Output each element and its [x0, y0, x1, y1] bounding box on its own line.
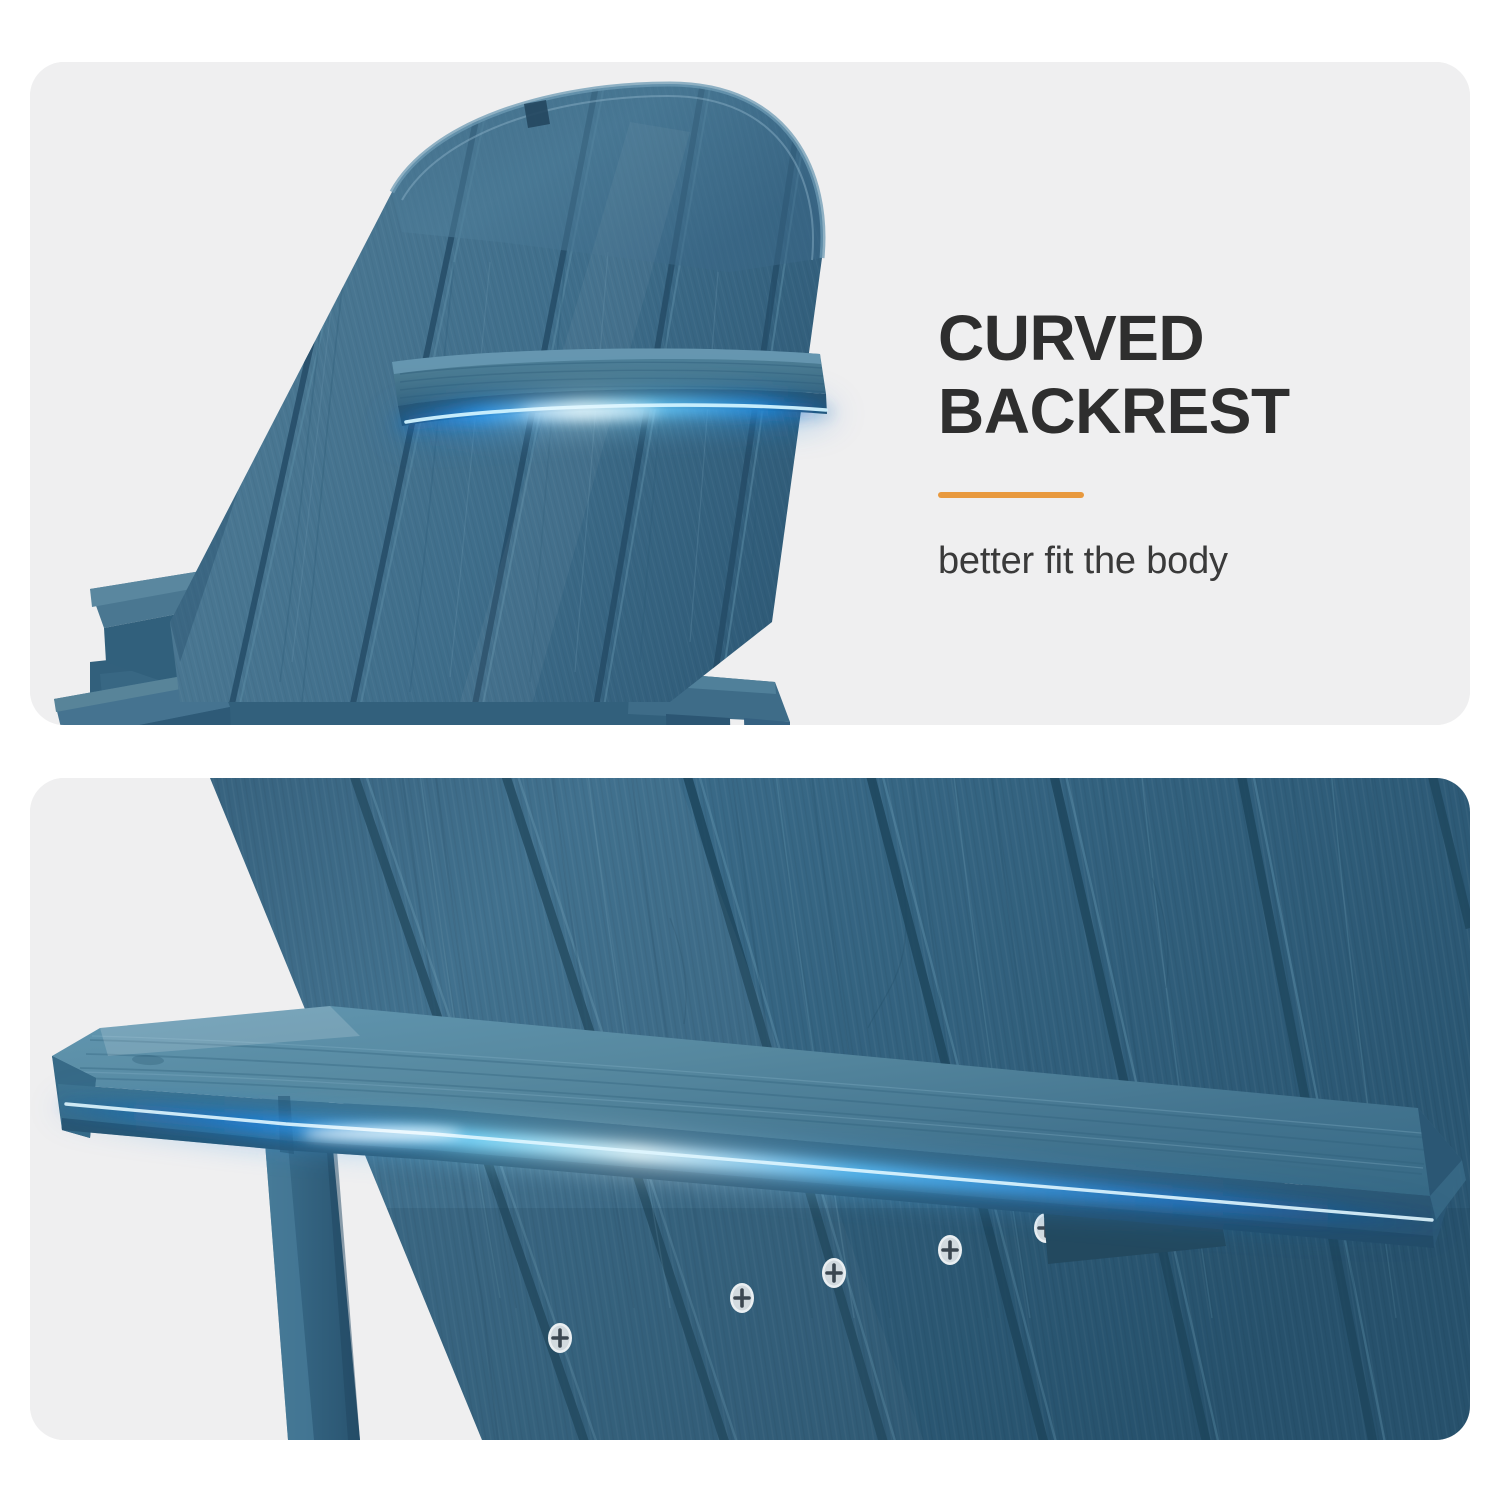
panel-subline-curved-backrest: better fit the body — [938, 540, 1458, 583]
accent-glow-strip — [402, 405, 828, 426]
screw — [822, 1258, 846, 1288]
feature-panel-curved-backrest: CURVED BACKREST better fit the body — [30, 62, 1470, 725]
product-photo-wide-armrests — [30, 778, 1470, 1440]
screw — [548, 1323, 572, 1353]
feature-panel-wide-armrests: WIDE ARMRESTS for better arm relaxation — [30, 778, 1470, 1440]
screw — [730, 1283, 754, 1313]
panel-headline-curved-backrest: CURVED BACKREST — [938, 302, 1458, 448]
screw — [938, 1235, 962, 1265]
feature-copy-curved-backrest: CURVED BACKREST better fit the body — [938, 302, 1458, 583]
accent-rule-curved-backrest — [938, 492, 1084, 498]
product-feature-sheet: CURVED BACKREST better fit the body — [0, 0, 1500, 1500]
top-cap-notch — [524, 100, 550, 128]
